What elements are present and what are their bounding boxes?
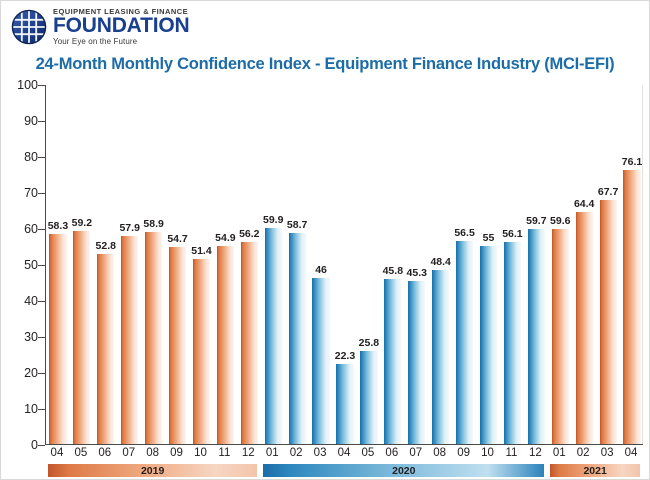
y-axis-tick — [38, 373, 45, 374]
bar-slot: 45.3 — [405, 85, 429, 444]
x-axis-tick-label: 07 — [409, 447, 422, 459]
x-axis-tick-label: 04 — [625, 447, 638, 459]
y-axis-tick-label: 70 — [0, 186, 38, 200]
bar[interactable]: 46 — [312, 278, 329, 444]
bar-value-label: 67.7 — [598, 186, 618, 198]
logo-main-line: FOUNDATION — [53, 16, 189, 36]
y-axis-tick — [38, 157, 45, 158]
bar-value-label: 52.8 — [96, 240, 116, 252]
x-axis-tick-label: 08 — [433, 447, 446, 459]
bar-value-label: 76.1 — [622, 156, 642, 168]
x-axis-tick-label: 07 — [122, 447, 135, 459]
x-axis-tick-label: 03 — [314, 447, 327, 459]
bar[interactable]: 55 — [480, 246, 497, 444]
bar[interactable]: 54.7 — [169, 247, 186, 444]
bar-slot: 58.7 — [285, 85, 309, 444]
year-band: 2021 — [550, 464, 640, 477]
logo-wordmark: EQUIPMENT LEASING & FINANCE FOUNDATION Y… — [53, 8, 189, 46]
bar-slot: 58.3 — [46, 85, 70, 444]
logo-tagline: Your Eye on the Future — [53, 38, 189, 46]
bar-value-label: 58.9 — [143, 218, 163, 230]
y-axis-tick-label: 90 — [0, 114, 38, 128]
bar-slot: 59.6 — [548, 85, 572, 444]
y-axis-tick-label: 0 — [0, 438, 38, 452]
x-axis-tick-label: 04 — [51, 447, 64, 459]
bar-slot: 56.2 — [237, 85, 261, 444]
x-axis-tick-label: 02 — [577, 447, 590, 459]
bar[interactable]: 45.3 — [408, 281, 425, 444]
y-axis-tick — [38, 409, 45, 410]
bar-slot: 45.8 — [381, 85, 405, 444]
x-axis-tick-label: 12 — [529, 447, 542, 459]
bar-slot: 22.3 — [333, 85, 357, 444]
bar[interactable]: 51.4 — [193, 259, 210, 444]
bar[interactable]: 52.8 — [97, 254, 114, 444]
bar-slot: 59.2 — [70, 85, 94, 444]
y-axis-tick-label: 80 — [0, 150, 38, 164]
plot-area: 0102030405060708090100 58.359.252.857.95… — [45, 85, 643, 445]
bar-value-label: 56.1 — [502, 228, 522, 240]
bar-value-label: 58.3 — [48, 220, 68, 232]
y-axis-tick-label: 100 — [0, 78, 38, 92]
bar-value-label: 59.9 — [263, 214, 283, 226]
bar-value-label: 55 — [483, 232, 495, 244]
x-axis-tick-label: 02 — [290, 447, 303, 459]
bar[interactable]: 59.6 — [552, 229, 569, 444]
bar-slot: 64.4 — [572, 85, 596, 444]
bar[interactable]: 57.9 — [121, 236, 138, 444]
bar[interactable]: 56.2 — [241, 242, 258, 444]
globe-icon — [11, 9, 47, 45]
bar-value-label: 58.7 — [287, 219, 307, 231]
bar-value-label: 57.9 — [119, 222, 139, 234]
y-axis-tick-label: 40 — [0, 294, 38, 308]
bar-slot: 56.1 — [500, 85, 524, 444]
bar[interactable]: 22.3 — [336, 364, 353, 444]
bar-value-label: 45.3 — [407, 267, 427, 279]
bar-slot: 67.7 — [596, 85, 620, 444]
bar-slot: 25.8 — [357, 85, 381, 444]
bar-slot: 54.7 — [166, 85, 190, 444]
bar-slot: 54.9 — [213, 85, 237, 444]
bar-series: 58.359.252.857.958.954.751.454.956.259.9… — [46, 85, 642, 444]
y-axis-tick — [38, 445, 45, 446]
y-axis-tick — [38, 193, 45, 194]
bar[interactable]: 56.5 — [456, 241, 473, 444]
bar[interactable]: 58.9 — [145, 232, 162, 444]
year-band: 2020 — [263, 464, 544, 477]
bar[interactable]: 59.2 — [73, 231, 90, 444]
bar-slot: 51.4 — [190, 85, 214, 444]
x-axis-tick-label: 09 — [457, 447, 470, 459]
x-axis-tick-label: 12 — [242, 447, 255, 459]
x-axis-tick-label: 03 — [601, 447, 614, 459]
foundation-logo: EQUIPMENT LEASING & FINANCE FOUNDATION Y… — [11, 7, 189, 47]
x-axis-tick-label: 04 — [338, 447, 351, 459]
bar[interactable]: 58.7 — [289, 233, 306, 444]
bar[interactable]: 67.7 — [600, 200, 617, 444]
bar[interactable]: 59.7 — [528, 229, 545, 444]
bar-value-label: 22.3 — [335, 350, 355, 362]
bar-slot: 55 — [477, 85, 501, 444]
x-axis-tick-label: 01 — [553, 447, 566, 459]
bar-value-label: 56.5 — [454, 227, 474, 239]
bar-value-label: 56.2 — [239, 228, 259, 240]
x-axis-tick-label: 06 — [98, 447, 111, 459]
bar[interactable]: 45.8 — [384, 279, 401, 444]
year-band-row: 201920202021 — [45, 464, 643, 477]
bar[interactable]: 48.4 — [432, 270, 449, 444]
x-axis-tick-label: 10 — [194, 447, 207, 459]
bar-slot: 58.9 — [142, 85, 166, 444]
x-axis-tick-label: 01 — [266, 447, 279, 459]
bar-value-label: 64.4 — [574, 198, 594, 210]
x-axis-tick-label: 11 — [505, 447, 517, 459]
x-axis-labels: 0405060708091011120102030405060708091011… — [45, 447, 643, 463]
bar-value-label: 54.9 — [215, 232, 235, 244]
y-axis-tick-label: 10 — [0, 402, 38, 416]
bar[interactable]: 54.9 — [217, 246, 234, 444]
x-axis-tick-label: 05 — [74, 447, 87, 459]
y-axis-tick — [38, 337, 45, 338]
y-axis-tick-label: 20 — [0, 366, 38, 380]
bar-value-label: 25.8 — [359, 337, 379, 349]
y-axis-tick — [38, 229, 45, 230]
bar-slot: 48.4 — [429, 85, 453, 444]
x-axis-tick-label: 06 — [385, 447, 398, 459]
bar-slot: 59.9 — [261, 85, 285, 444]
bar-slot: 59.7 — [524, 85, 548, 444]
bar[interactable]: 58.3 — [49, 234, 66, 444]
x-axis-tick-label: 10 — [481, 447, 494, 459]
x-axis-tick-label: 11 — [218, 447, 230, 459]
bar-value-label: 59.7 — [526, 215, 546, 227]
y-axis-tick — [38, 265, 45, 266]
bar-slot: 56.5 — [453, 85, 477, 444]
bar-slot: 46 — [309, 85, 333, 444]
bar-value-label: 48.4 — [430, 256, 450, 268]
bar-slot: 52.8 — [94, 85, 118, 444]
bar-value-label: 59.2 — [72, 217, 92, 229]
x-axis-tick-label: 08 — [146, 447, 159, 459]
bar-value-label: 46 — [315, 264, 327, 276]
y-axis-tick-label: 30 — [0, 330, 38, 344]
bar-value-label: 45.8 — [383, 265, 403, 277]
x-axis-tick-label: 09 — [170, 447, 183, 459]
y-axis-tick-label: 60 — [0, 222, 38, 236]
bar[interactable]: 64.4 — [576, 212, 593, 444]
chart-page: EQUIPMENT LEASING & FINANCE FOUNDATION Y… — [0, 0, 650, 480]
bar[interactable]: 56.1 — [504, 242, 521, 444]
y-axis-tick — [38, 121, 45, 122]
year-band: 2019 — [48, 464, 258, 477]
bar-value-label: 59.6 — [550, 215, 570, 227]
x-axis-line — [45, 444, 643, 445]
bar-value-label: 51.4 — [191, 245, 211, 257]
bar[interactable]: 76.1 — [623, 170, 640, 444]
x-axis-tick-label: 05 — [362, 447, 375, 459]
bar-slot: 76.1 — [620, 85, 644, 444]
y-axis-tick — [38, 301, 45, 302]
bar-slot: 57.9 — [118, 85, 142, 444]
y-axis-tick-label: 50 — [0, 258, 38, 272]
bar[interactable]: 59.9 — [265, 228, 282, 444]
y-axis-tick — [38, 85, 45, 86]
bar-value-label: 54.7 — [167, 233, 187, 245]
chart-title: 24-Month Monthly Confidence Index - Equi… — [1, 55, 649, 74]
bar[interactable]: 25.8 — [360, 351, 377, 444]
